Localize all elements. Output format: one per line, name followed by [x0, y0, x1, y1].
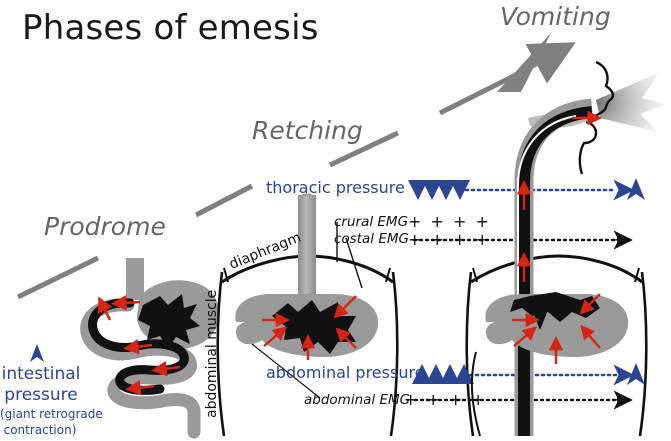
giant-retrograde-contraction-line2: contraction) [0, 423, 80, 437]
phase-label-retching: Retching [252, 116, 363, 145]
phase-label-prodrome: Prodrome [44, 212, 166, 241]
vomiting-abdominal-emg-value: + [611, 390, 624, 409]
costal-emg-label: costal EMG [334, 231, 409, 247]
abdominal-emg-value: + + + + [404, 390, 487, 409]
vomiting-anatomy [467, 62, 666, 436]
intestinal-pressure-label-line2: pressure [0, 385, 82, 405]
intestinal-pressure-marker [30, 344, 44, 362]
intestinal-pressure-label-line1: intestinal [0, 364, 82, 384]
prodrome-anatomy [87, 258, 219, 432]
giant-retrograde-contraction-line1: (giant retrograde [0, 407, 100, 421]
vomiting-costal-emg-value: + [611, 230, 624, 249]
emesis-diagram: Phases of emesis Prodrome Retching Vomit… [0, 0, 671, 441]
vomiting-thoracic-pressure-marker [627, 178, 645, 200]
page-title: Phases of emesis [22, 8, 319, 48]
abdominal-emg-label: abdominal EMG [304, 392, 410, 408]
thoracic-pressure-label: thoracic pressure [266, 178, 405, 197]
thoracic-pressure-markers [408, 180, 470, 200]
phase-label-vomiting: Vomiting [500, 2, 611, 31]
abdominal-pressure-label: abdominal pressure [266, 363, 425, 382]
crural-emg-label: crural EMG [334, 214, 408, 230]
crural-emg-value: + + + + [408, 212, 491, 231]
abdominal-muscle-label: abdominal muscle [204, 290, 220, 418]
vomiting-abdominal-pressure-marker [627, 363, 645, 385]
costal-emg-value: + + + + [408, 230, 491, 249]
